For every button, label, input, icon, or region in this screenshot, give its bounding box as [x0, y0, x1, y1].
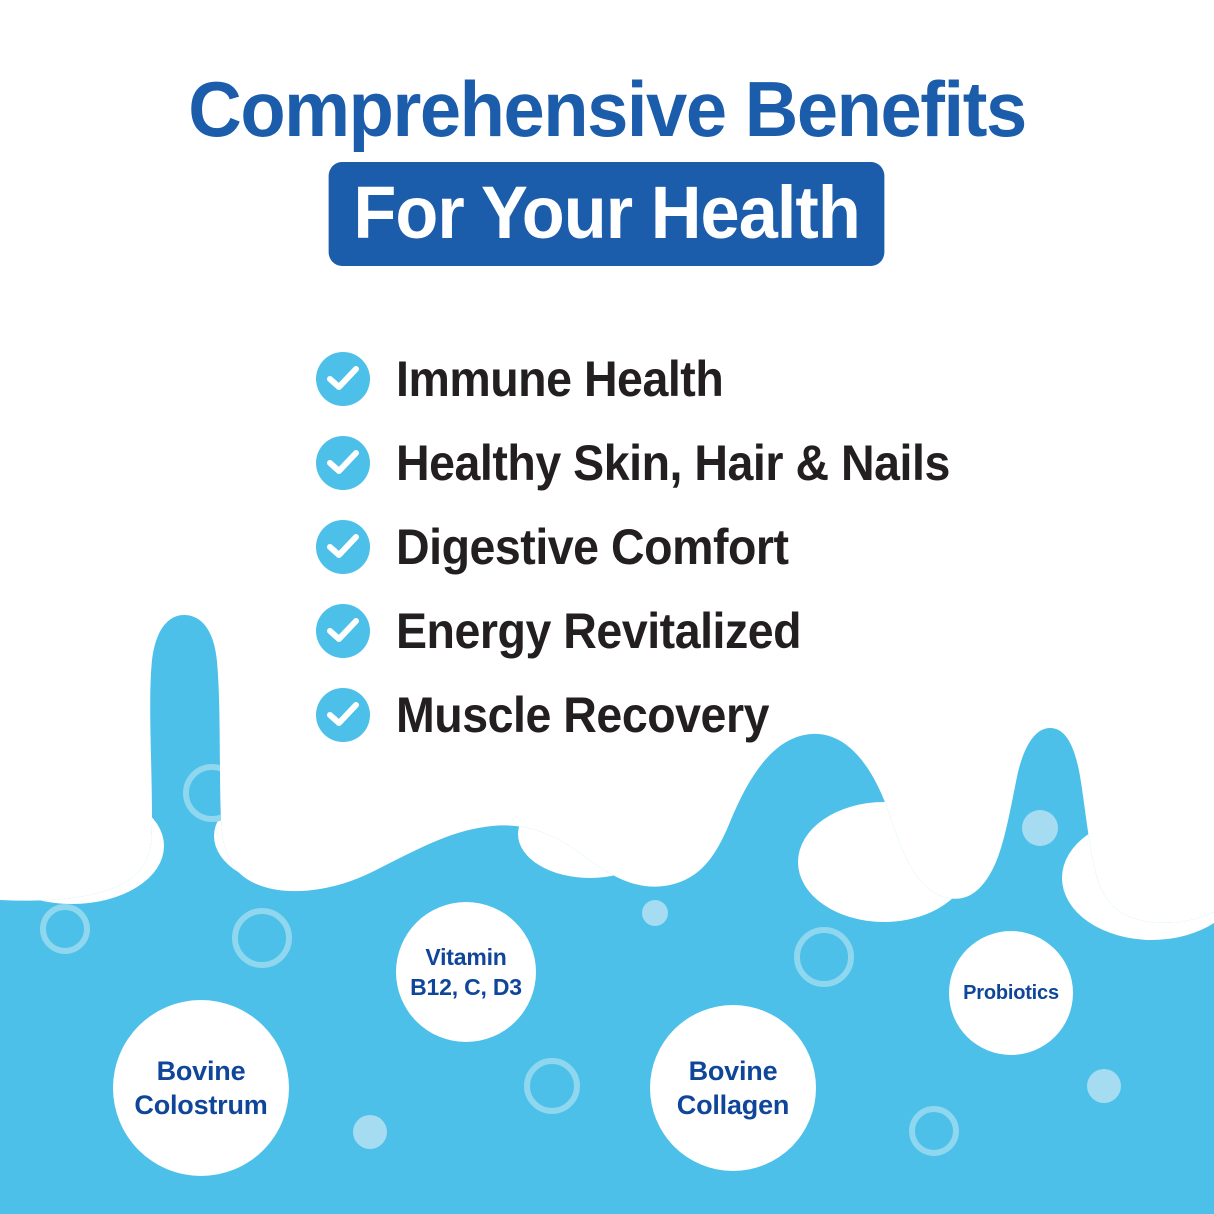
page-title-line1: Comprehensive Benefits [30, 0, 1183, 152]
ingredient-line-1: Bovine [689, 1056, 778, 1086]
benefit-label: Healthy Skin, Hair & Nails [396, 436, 950, 490]
ingredient-bubble-vitamin-b12-c-d3: Vitamin B12, C, D3 [396, 902, 536, 1042]
bubble-ring-icon [797, 930, 851, 984]
bubble-ring-icon [912, 1109, 956, 1153]
benefit-label: Digestive Comfort [396, 520, 789, 574]
ingredient-line-2: B12, C, D3 [410, 974, 522, 1000]
ingredient-bubble-probiotics: Probiotics [949, 931, 1073, 1055]
foam-pocket [0, 788, 164, 904]
check-icon [316, 436, 370, 490]
benefit-item-muscle-recovery: Muscle Recovery [316, 673, 1136, 757]
bubble-ring-icon [186, 767, 238, 819]
ingredient-line-2: Collagen [677, 1090, 789, 1120]
check-icon [316, 352, 370, 406]
bubble-dot-icon [642, 900, 668, 926]
header: Comprehensive Benefits For Your Health [0, 0, 1214, 266]
bubble-ring-icon [527, 1061, 577, 1111]
ingredient-bubble-bovine-collagen: Bovine Collagen [650, 1005, 816, 1171]
bubble-ring-icon [235, 911, 289, 965]
check-icon [316, 688, 370, 742]
benefit-item-energy-revitalized: Energy Revitalized [316, 589, 1136, 673]
bubble-dot-icon [1087, 1069, 1121, 1103]
foam-pocket [798, 802, 970, 922]
benefits-list: Immune Health Healthy Skin, Hair & Nails… [316, 337, 1136, 757]
benefit-item-digestive-comfort: Digestive Comfort [316, 505, 1136, 589]
bubble-ring-icon [43, 907, 87, 951]
benefit-item-immune-health: Immune Health [316, 337, 1136, 421]
bubble-dot-icon [1022, 810, 1058, 846]
check-icon [316, 604, 370, 658]
title-badge-wrap: For Your Health [0, 162, 1214, 266]
ingredient-bubble-text: Bovine Collagen [677, 1054, 789, 1122]
foam-pocket [214, 784, 386, 888]
ingredient-bubble-text: Vitamin B12, C, D3 [410, 942, 522, 1002]
ingredient-line-1: Probiotics [963, 982, 1059, 1004]
foam-pocket [518, 790, 662, 878]
benefit-label: Immune Health [396, 352, 723, 406]
ingredient-line-2: Colostrum [134, 1090, 267, 1120]
ingredient-bubble-text: Probiotics [963, 980, 1059, 1006]
page-title-badge: For Your Health [329, 162, 885, 266]
bubble-dot-icon [353, 1115, 387, 1149]
benefit-item-healthy-skin-hair-nails: Healthy Skin, Hair & Nails [316, 421, 1136, 505]
benefits-infographic: Comprehensive Benefits For Your Health I… [0, 0, 1214, 1214]
benefit-label: Energy Revitalized [396, 604, 801, 658]
ingredient-line-1: Bovine [157, 1056, 246, 1086]
foam-pocket [1062, 816, 1214, 940]
check-icon [316, 520, 370, 574]
ingredient-bubble-text: Bovine Colostrum [134, 1054, 267, 1122]
ingredient-bubble-bovine-colostrum: Bovine Colostrum [113, 1000, 289, 1176]
benefit-label: Muscle Recovery [396, 688, 769, 742]
ingredient-line-1: Vitamin [425, 944, 506, 970]
